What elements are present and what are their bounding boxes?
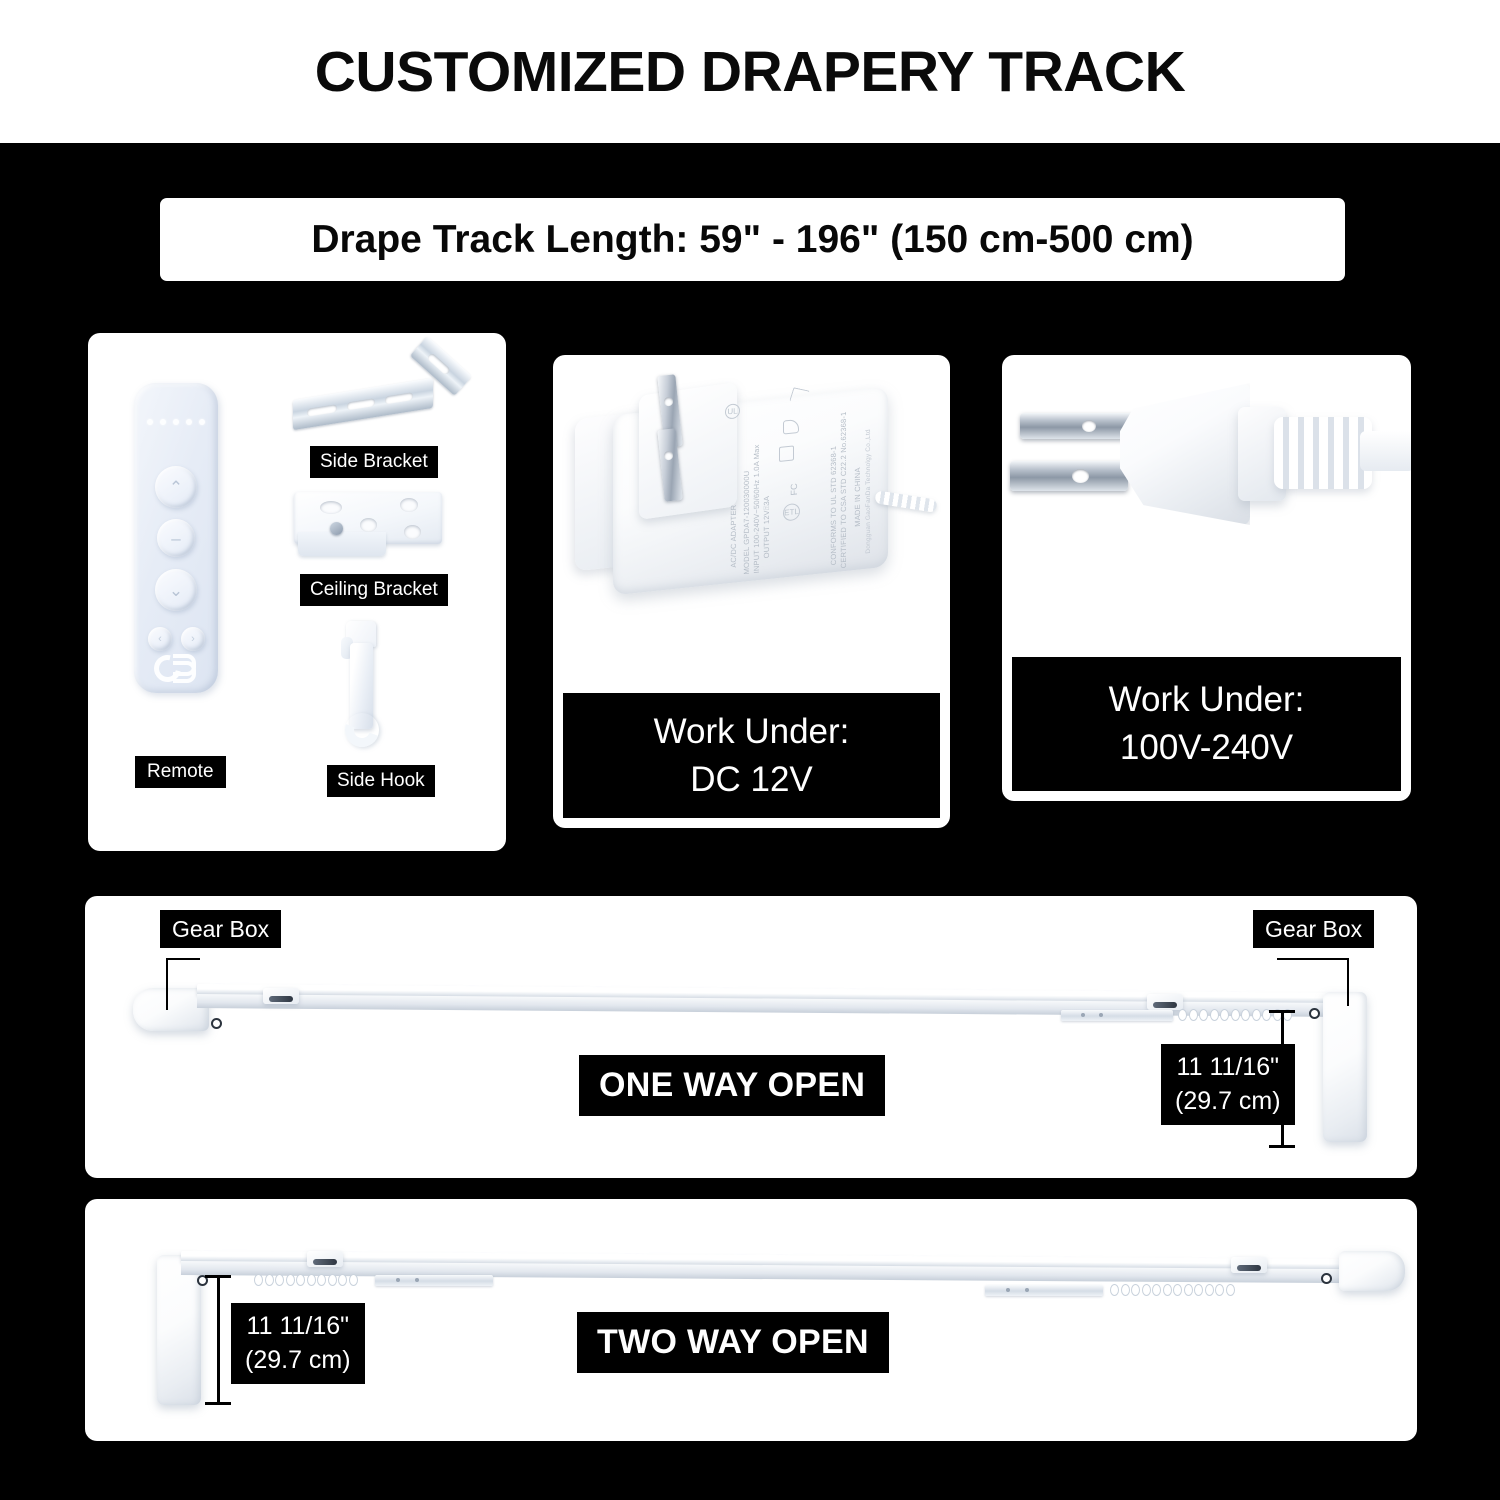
led-dot-4 bbox=[186, 419, 192, 425]
track-clip-left bbox=[263, 988, 299, 1004]
remote-down-button: ⌄ bbox=[155, 569, 197, 611]
side-hook-caption: Side Hook bbox=[327, 765, 435, 797]
dimension-cm: (29.7 cm) bbox=[245, 1346, 351, 1375]
gearbox-right-leader-v bbox=[1347, 958, 1349, 1006]
power-adapter-image: AC/DC ADAPTER MODEL GPDA7-120030000U INP… bbox=[553, 355, 950, 685]
minus-icon: – bbox=[171, 530, 180, 547]
side-hook-image bbox=[334, 621, 390, 751]
metal-strip-right bbox=[985, 1285, 1103, 1296]
adapter-label-line-2: MODEL GPDA7-120030000U bbox=[742, 470, 751, 575]
two-way-open-panel: 11 11/16" (29.7 cm) TWO WAY OPEN bbox=[85, 1199, 1417, 1441]
adapter-label-line-4: OUTPUT 12V⍐3A bbox=[762, 495, 772, 558]
gearbox-left-leader-h bbox=[166, 958, 200, 960]
two-way-open-label: TWO WAY OPEN bbox=[577, 1312, 889, 1373]
track-clip-right bbox=[1231, 1257, 1267, 1273]
remote-control-image: ⌃ – ⌄ ‹ › bbox=[134, 383, 218, 693]
dimension-cap-bottom bbox=[205, 1402, 231, 1405]
adapter-label-line-1: AC/DC ADAPTER bbox=[729, 504, 738, 568]
dimension-inches: 11 11/16" bbox=[247, 1312, 349, 1341]
adapter-label-line-7: MADE IN CHINA bbox=[853, 467, 862, 527]
carrier-ring-strip-left bbox=[251, 1273, 361, 1286]
track-end-eye-left bbox=[211, 1018, 222, 1029]
track-clip-left bbox=[307, 1251, 343, 1267]
remote-led-indicator-row bbox=[147, 419, 205, 425]
one-way-dimension-badge: 11 11/16" (29.7 cm) bbox=[1161, 1044, 1295, 1125]
gearbox-left-label: Gear Box bbox=[160, 910, 281, 948]
dimension-line bbox=[217, 1275, 220, 1405]
side-bracket-image bbox=[293, 351, 471, 439]
chevron-left-icon: ‹ bbox=[158, 634, 162, 645]
gearbox-left-leader-v bbox=[166, 958, 168, 1010]
remote-caption: Remote bbox=[135, 756, 226, 788]
gearbox-right-leader-h bbox=[1277, 958, 1349, 960]
etl-mark-icon: ETL bbox=[783, 503, 800, 522]
adapter-label-line-6: CERTIFIED TO CSA STD C22.2 No.62368-1 bbox=[839, 411, 848, 569]
adapter-label-print: AC/DC ADAPTER MODEL GPDA7-120030000U INP… bbox=[723, 375, 873, 581]
metal-strip-left bbox=[375, 1275, 493, 1286]
plug-work-under-label: Work Under: bbox=[1109, 678, 1305, 722]
fcc-mark-icon: FC bbox=[789, 483, 799, 496]
gearbox-right bbox=[1323, 992, 1367, 1142]
plug-work-under-value: 100V-240V bbox=[1120, 726, 1293, 770]
track-end-eye-right bbox=[1321, 1273, 1332, 1284]
led-dot-1 bbox=[147, 419, 153, 425]
adapter-label-line-8: Dongguan GaoFanDa Technolgy Co.,Ltd bbox=[865, 429, 872, 554]
dimension-cap-bottom bbox=[1269, 1145, 1295, 1148]
no-waste-bin-icon bbox=[789, 387, 809, 404]
drape-track-length-text: Drape Track Length: 59" - 196" (150 cm-5… bbox=[311, 218, 1193, 262]
double-insulation-icon bbox=[779, 445, 794, 462]
one-way-open-label: ONE WAY OPEN bbox=[579, 1055, 885, 1116]
side-bracket-caption: Side Bracket bbox=[310, 446, 438, 478]
header-band: CUSTOMIZED DRAPERY TRACK bbox=[0, 0, 1500, 143]
adapter-label-line-3: INPUT 100-240V~50/60Hz 1.0A Max bbox=[752, 444, 761, 574]
remote-left-button: ‹ bbox=[148, 627, 172, 651]
drape-track-length-banner: Drape Track Length: 59" - 196" (150 cm-5… bbox=[160, 198, 1345, 281]
adapter-work-under-value: DC 12V bbox=[690, 758, 813, 802]
accessories-panel: ⌃ – ⌄ ‹ › Remote Side Bracket bbox=[88, 333, 506, 851]
plug-work-under-badge: Work Under: 100V-240V bbox=[1010, 655, 1403, 793]
dimension-cm: (29.7 cm) bbox=[1175, 1087, 1281, 1116]
adapter-work-under-label: Work Under: bbox=[654, 710, 850, 754]
chevron-up-icon: ⌃ bbox=[169, 479, 183, 496]
metal-strip bbox=[1061, 1010, 1173, 1021]
chevron-down-icon: ⌄ bbox=[169, 582, 183, 599]
led-dot-5 bbox=[199, 419, 205, 425]
adapter-work-under-badge: Work Under: DC 12V bbox=[561, 691, 942, 820]
one-way-track-image bbox=[85, 896, 1417, 1178]
brand-logo-icon bbox=[148, 651, 204, 685]
two-way-dimension-badge: 11 11/16" (29.7 cm) bbox=[231, 1303, 365, 1384]
indoor-use-icon bbox=[783, 419, 799, 435]
gearbox-right-label: Gear Box bbox=[1253, 910, 1374, 948]
adapter-label-line-5: CONFORMS TO UL STD 62368-1 bbox=[829, 446, 838, 566]
remote-stop-button: – bbox=[157, 519, 195, 557]
gearbox-right bbox=[1339, 1251, 1405, 1291]
power-plug-image bbox=[1002, 355, 1411, 655]
remote-right-button: › bbox=[181, 627, 205, 651]
dimension-cap-top bbox=[1269, 1010, 1295, 1013]
track-end-eye-right bbox=[1309, 1008, 1320, 1019]
remote-up-button: ⌃ bbox=[155, 466, 197, 508]
ceiling-bracket-caption: Ceiling Bracket bbox=[300, 574, 448, 606]
power-adapter-panel: AC/DC ADAPTER MODEL GPDA7-120030000U INP… bbox=[553, 355, 950, 828]
led-dot-3 bbox=[173, 419, 179, 425]
one-way-open-panel: Gear Box Gear Box 11 11/16" (29.7 cm) ON… bbox=[85, 896, 1417, 1178]
dimension-cap-top bbox=[205, 1275, 231, 1278]
page-title: CUSTOMIZED DRAPERY TRACK bbox=[315, 39, 1186, 105]
power-plug-panel: Work Under: 100V-240V bbox=[1002, 355, 1411, 801]
led-dot-2 bbox=[160, 419, 166, 425]
ul-mark-icon: UL bbox=[725, 403, 740, 420]
gearbox-left bbox=[157, 1255, 201, 1405]
dimension-inches: 11 11/16" bbox=[1177, 1053, 1279, 1082]
ceiling-bracket-image bbox=[294, 488, 442, 560]
chevron-right-icon: › bbox=[191, 634, 195, 645]
carrier-ring-strip-right bbox=[1107, 1283, 1238, 1296]
